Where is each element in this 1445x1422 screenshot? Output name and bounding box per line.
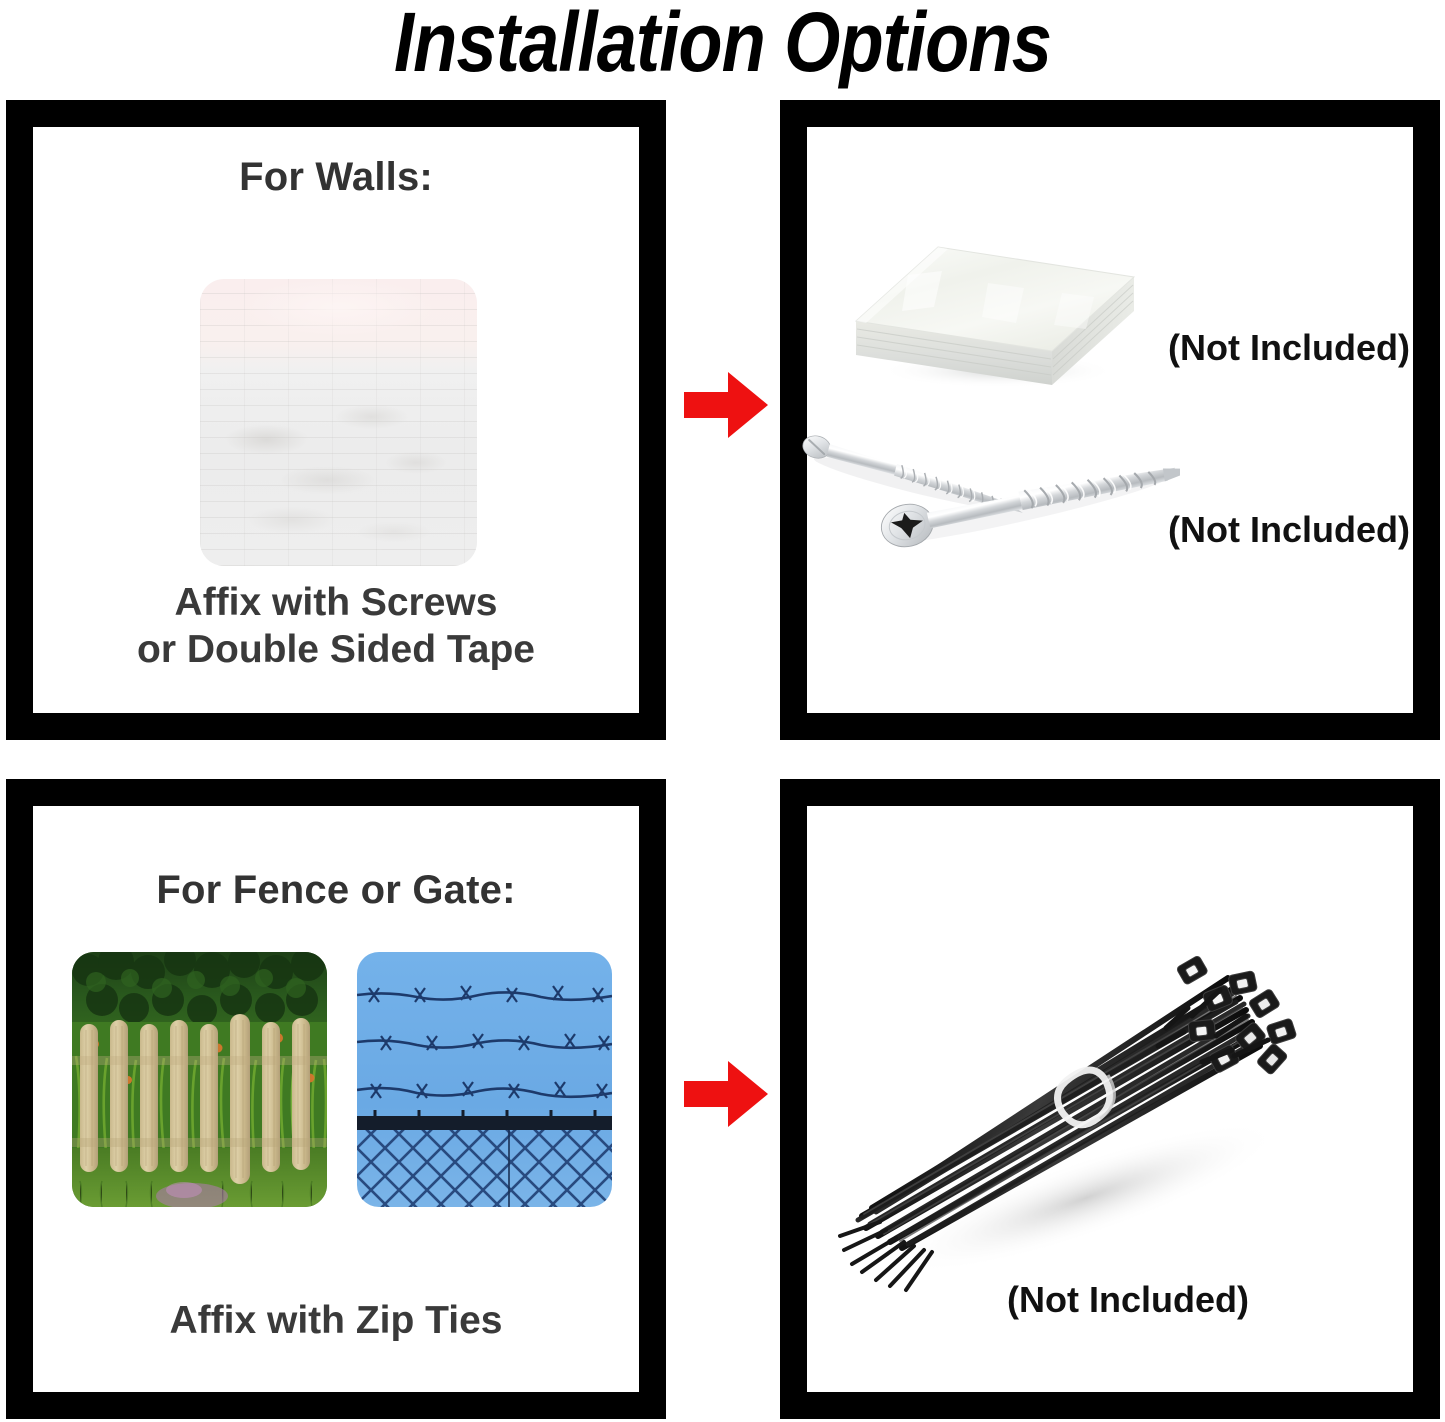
- picket-fence-svg: [72, 952, 327, 1207]
- tape-not-included-label: (Not Included): [1168, 327, 1410, 369]
- chain-link-barbed-wire-fence-photo: [357, 952, 612, 1207]
- screws-not-included-label: (Not Included): [1168, 509, 1410, 551]
- chain-link-fence-svg: [357, 952, 612, 1207]
- red-right-arrow-top: [684, 372, 768, 438]
- zip-ties-not-included-label: (Not Included): [1007, 1279, 1249, 1321]
- tape-stack-svg: [838, 203, 1148, 393]
- for-fence-heading: For Fence or Gate:: [33, 868, 639, 913]
- zip-ties-bundle-image: [836, 898, 1316, 1303]
- wooden-picket-fence-photo: [72, 952, 327, 1207]
- for-walls-heading: For Walls:: [33, 155, 639, 200]
- red-right-arrow-icon: [684, 1061, 768, 1127]
- red-right-arrow-bottom: [684, 1061, 768, 1127]
- wood-screws-image: [790, 420, 1180, 615]
- page-title: Installation Options: [101, 0, 1344, 84]
- white-brick-wall-photo: [200, 279, 477, 566]
- zip-ties-svg: [836, 898, 1316, 1303]
- double-sided-tape-stack-image: [838, 203, 1148, 393]
- screws-svg: [790, 420, 1180, 615]
- panel-for-walls-content: For Walls: Affix with Screws or Double S…: [33, 127, 639, 713]
- panel-for-walls: For Walls: Affix with Screws or Double S…: [6, 100, 666, 740]
- for-walls-caption: Affix with Screws or Double Sided Tape: [33, 579, 639, 673]
- red-right-arrow-icon: [684, 372, 768, 438]
- caption-line-1: Affix with Screws: [33, 579, 639, 626]
- for-fence-caption: Affix with Zip Ties: [33, 1297, 639, 1344]
- brick-mottle-texture: [200, 279, 477, 566]
- caption-line-2: or Double Sided Tape: [33, 626, 639, 673]
